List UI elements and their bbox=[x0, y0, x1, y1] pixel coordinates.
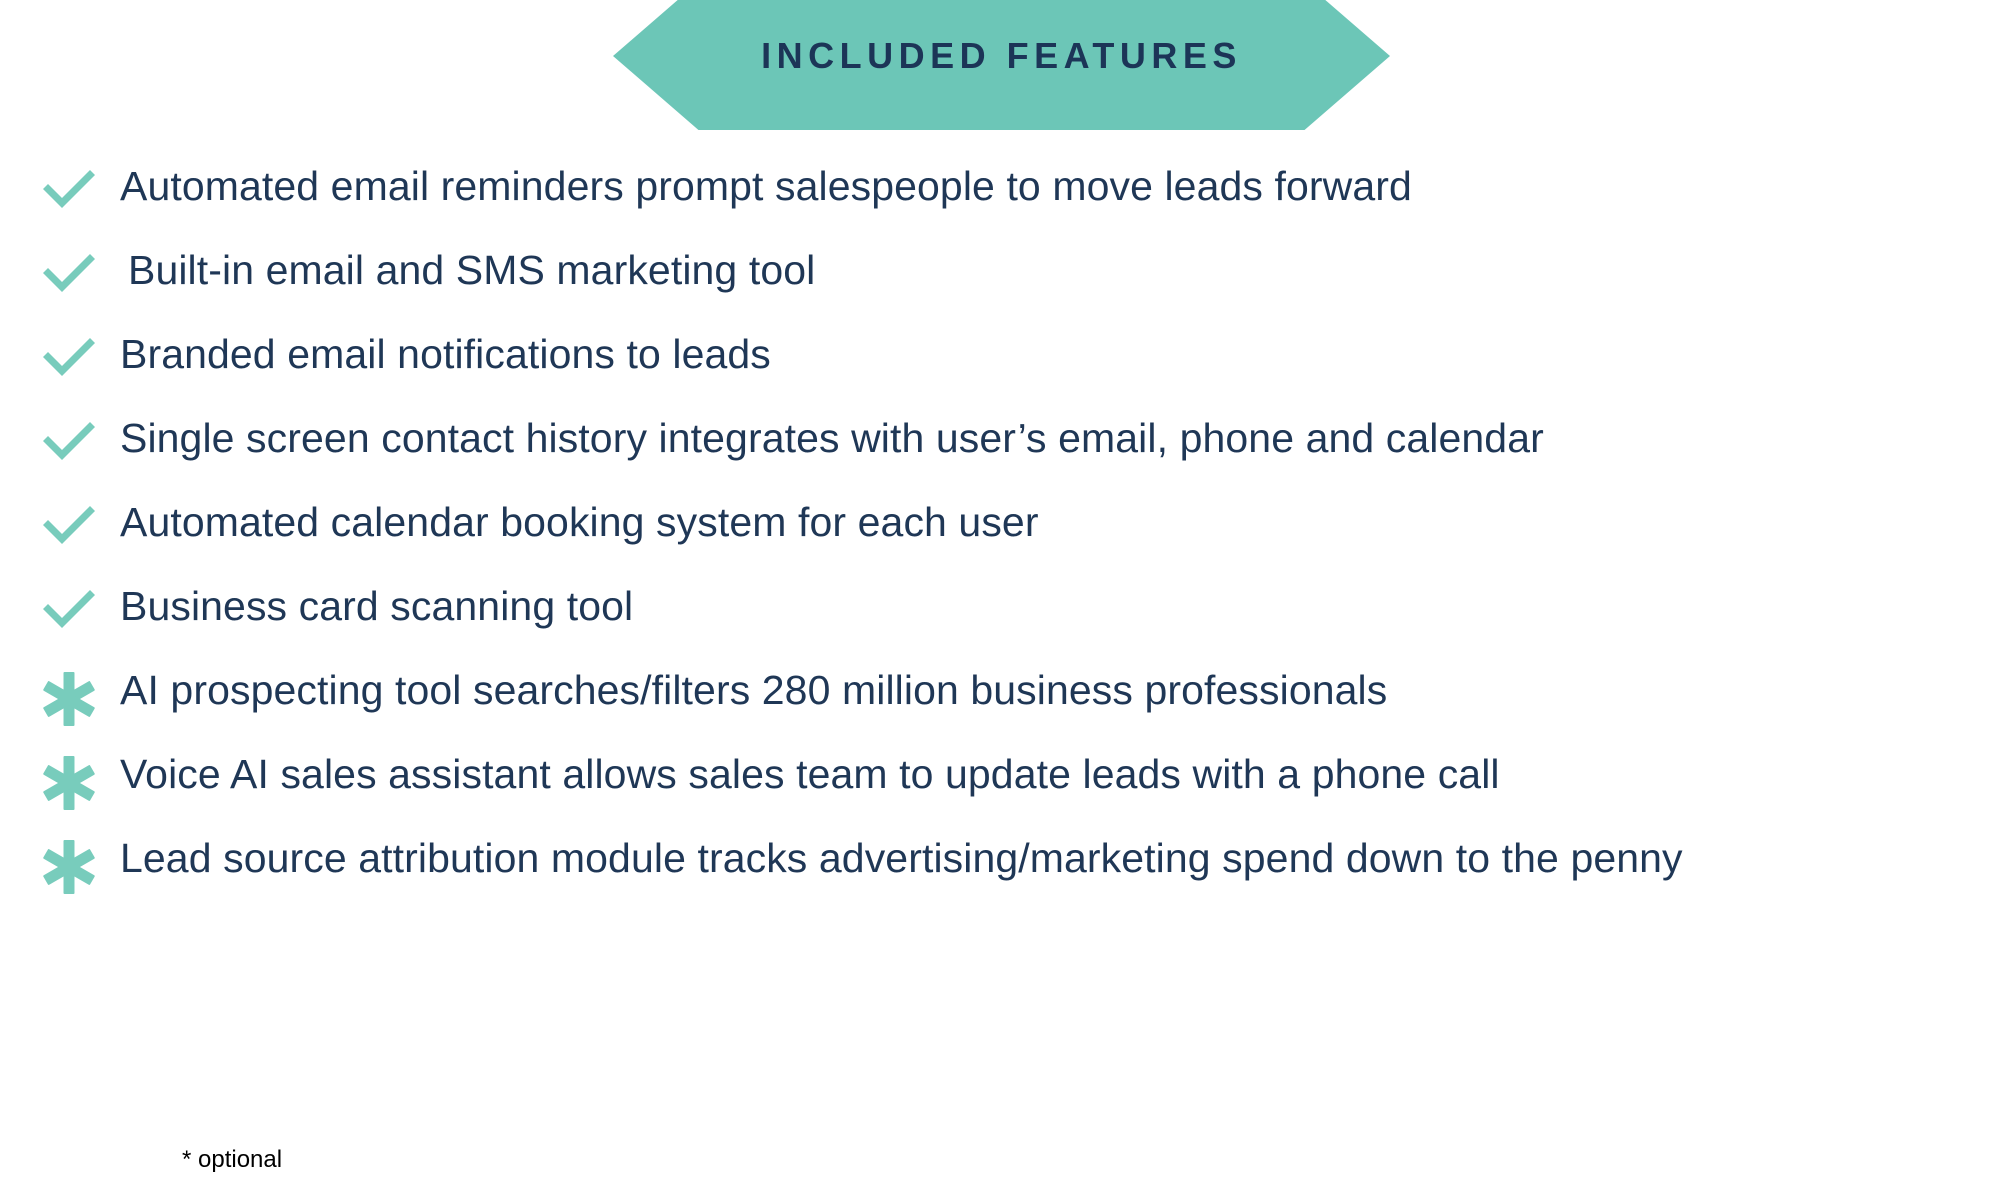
check-icon bbox=[40, 250, 98, 296]
feature-item: Single screen contact history integrates… bbox=[0, 412, 2000, 496]
feature-label: Branded email notifications to leads bbox=[120, 328, 1820, 381]
feature-item: Automated calendar booking system for ea… bbox=[0, 496, 2000, 580]
feature-icon-cell bbox=[0, 412, 120, 464]
check-icon bbox=[40, 586, 98, 632]
feature-label: Voice AI sales assistant allows sales te… bbox=[120, 748, 1820, 801]
optional-footnote: * optional bbox=[182, 1148, 282, 1172]
feature-label: Automated email reminders prompt salespe… bbox=[120, 160, 1820, 213]
feature-icon-cell bbox=[0, 244, 120, 296]
feature-item: Voice AI sales assistant allows sales te… bbox=[0, 748, 2000, 832]
feature-label: Built-in email and SMS marketing tool bbox=[120, 244, 1828, 297]
feature-item: Automated email reminders prompt salespe… bbox=[0, 160, 2000, 244]
feature-item: Built-in email and SMS marketing tool bbox=[0, 244, 2000, 328]
feature-icon-cell bbox=[0, 160, 120, 212]
feature-label: Automated calendar booking system for ea… bbox=[120, 496, 1820, 549]
check-icon bbox=[40, 334, 98, 380]
feature-item: Business card scanning tool bbox=[0, 580, 2000, 664]
feature-icon-cell bbox=[0, 580, 120, 632]
check-icon bbox=[40, 502, 98, 548]
feature-icon-cell bbox=[0, 328, 120, 380]
feature-icon-cell bbox=[0, 664, 120, 728]
feature-item: AI prospecting tool searches/filters 280… bbox=[0, 664, 2000, 748]
features-list: Automated email reminders prompt salespe… bbox=[0, 160, 2000, 916]
check-icon bbox=[40, 166, 98, 212]
feature-icon-cell bbox=[0, 748, 120, 812]
feature-icon-cell bbox=[0, 832, 120, 896]
feature-label: Single screen contact history integrates… bbox=[120, 412, 1820, 465]
check-icon bbox=[40, 418, 98, 464]
asterisk-icon bbox=[40, 670, 98, 728]
asterisk-icon bbox=[40, 838, 98, 896]
asterisk-icon bbox=[40, 754, 98, 812]
banner-title: INCLUDED FEATURES bbox=[613, 38, 1390, 74]
feature-label: Lead source attribution module tracks ad… bbox=[120, 832, 1820, 885]
included-features-banner: INCLUDED FEATURES bbox=[613, 0, 1390, 130]
feature-item: Branded email notifications to leads bbox=[0, 328, 2000, 412]
feature-label: AI prospecting tool searches/filters 280… bbox=[120, 664, 1820, 717]
feature-label: Business card scanning tool bbox=[120, 580, 1820, 633]
feature-icon-cell bbox=[0, 496, 120, 548]
feature-item: Lead source attribution module tracks ad… bbox=[0, 832, 2000, 916]
